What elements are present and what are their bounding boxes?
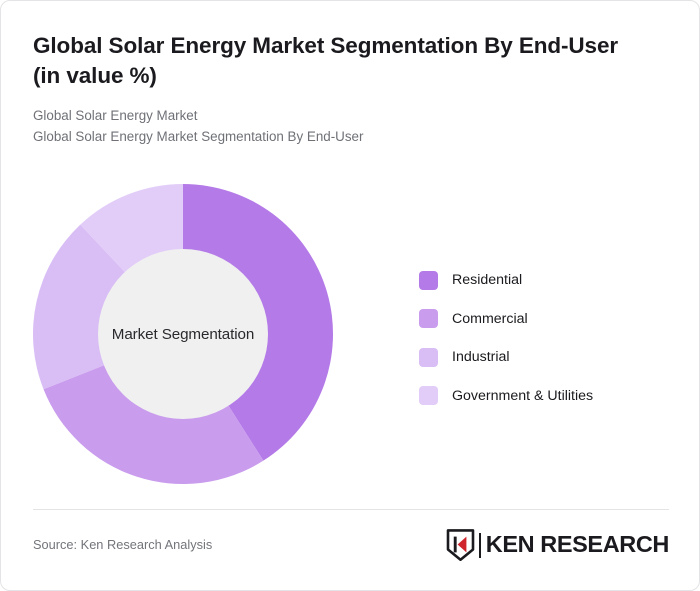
donut-center-circle: [98, 249, 268, 419]
donut-chart: Market Segmentation: [33, 184, 333, 484]
logo-wordmark: KEN RESEARCH: [486, 533, 669, 557]
legend-item-government-utilities[interactable]: Government & Utilities: [419, 377, 669, 416]
legend-item-industrial[interactable]: Industrial: [419, 338, 669, 377]
legend-label-residential: Residential: [452, 272, 522, 288]
page-title: Global Solar Energy Market Segmentation …: [33, 31, 643, 90]
subtitle-market: Global Solar Energy Market: [33, 106, 643, 127]
legend-label-commercial: Commercial: [452, 311, 528, 327]
plot-area: Market Segmentation ResidentialCommercia…: [1, 161, 700, 506]
source-note: Source: Ken Research Analysis: [33, 537, 212, 552]
ken-research-logo-mark: [446, 529, 475, 561]
ken-research-logo: KEN RESEARCH: [446, 528, 669, 562]
subtitle-block: Global Solar Energy Market Global Solar …: [33, 106, 643, 148]
chart-card: Global Solar Energy Market Segmentation …: [0, 0, 700, 591]
chart-header: Global Solar Energy Market Segmentation …: [33, 31, 643, 148]
legend-swatch-industrial: [419, 348, 438, 367]
legend-swatch-residential: [419, 271, 438, 290]
subtitle-segmentation: Global Solar Energy Market Segmentation …: [33, 127, 643, 148]
legend-label-government-utilities: Government & Utilities: [452, 388, 593, 404]
chart-footer: Source: Ken Research Analysis KEN RESEAR…: [33, 509, 669, 569]
donut-svg: [33, 184, 333, 484]
legend-swatch-government-utilities: [419, 386, 438, 405]
legend-item-residential[interactable]: Residential: [419, 261, 669, 300]
chart-legend: ResidentialCommercialIndustrialGovernmen…: [419, 261, 669, 415]
legend-label-industrial: Industrial: [452, 349, 510, 365]
logo-divider: [479, 533, 481, 558]
legend-swatch-commercial: [419, 309, 438, 328]
legend-item-commercial[interactable]: Commercial: [419, 300, 669, 339]
